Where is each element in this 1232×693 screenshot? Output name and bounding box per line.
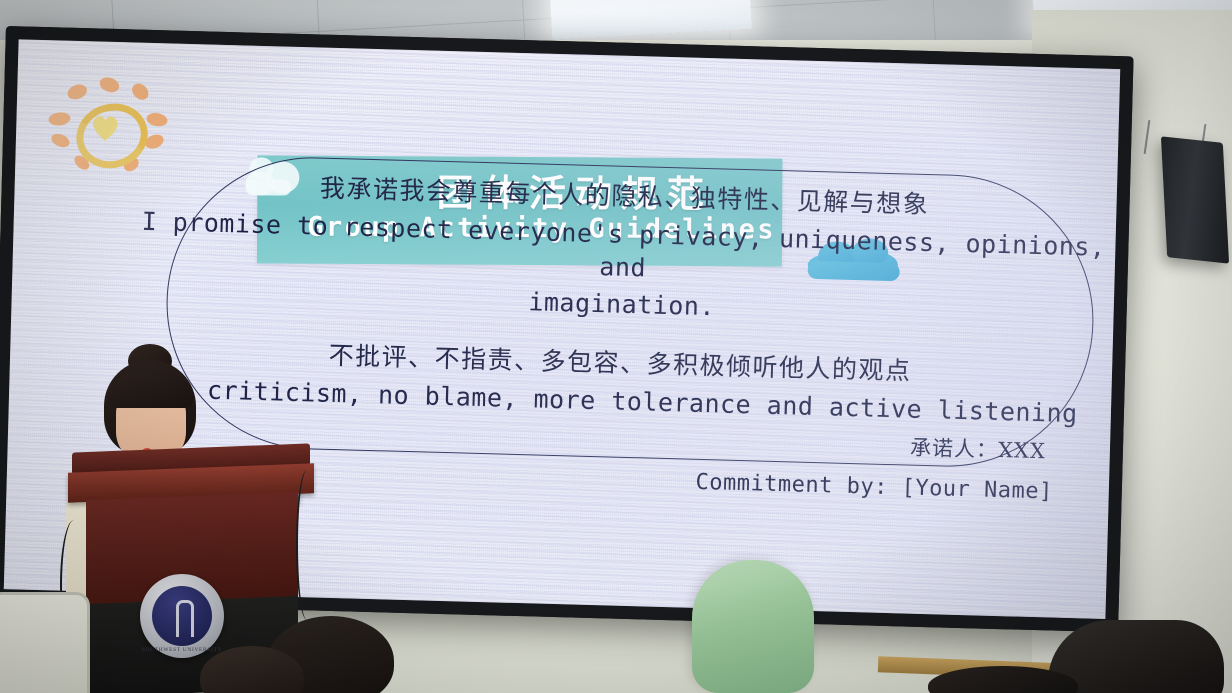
- hair-fringe: [108, 374, 194, 408]
- ceiling-speaker: [1161, 136, 1229, 263]
- signature-cn: 承诺人：XXX: [910, 432, 1047, 466]
- audience-member: [692, 560, 814, 693]
- chair: [0, 592, 90, 693]
- university-crest: SOUTHWEST UNIVERSITY: [140, 574, 224, 658]
- slide-body: 我承诺我会尊重每个人的隐私、独特性、见解与想象 I promise to res…: [129, 167, 1115, 431]
- crest-emblem: [176, 600, 194, 637]
- lecture-hall-photo: 团体活动规范 Group Activity Guidelines 我承诺我会尊重…: [0, 0, 1232, 693]
- signature-en: Commitment by: [Your Name]: [695, 470, 1053, 505]
- crest-label: SOUTHWEST UNIVERSITY: [140, 647, 224, 653]
- crest-inner: [152, 586, 212, 646]
